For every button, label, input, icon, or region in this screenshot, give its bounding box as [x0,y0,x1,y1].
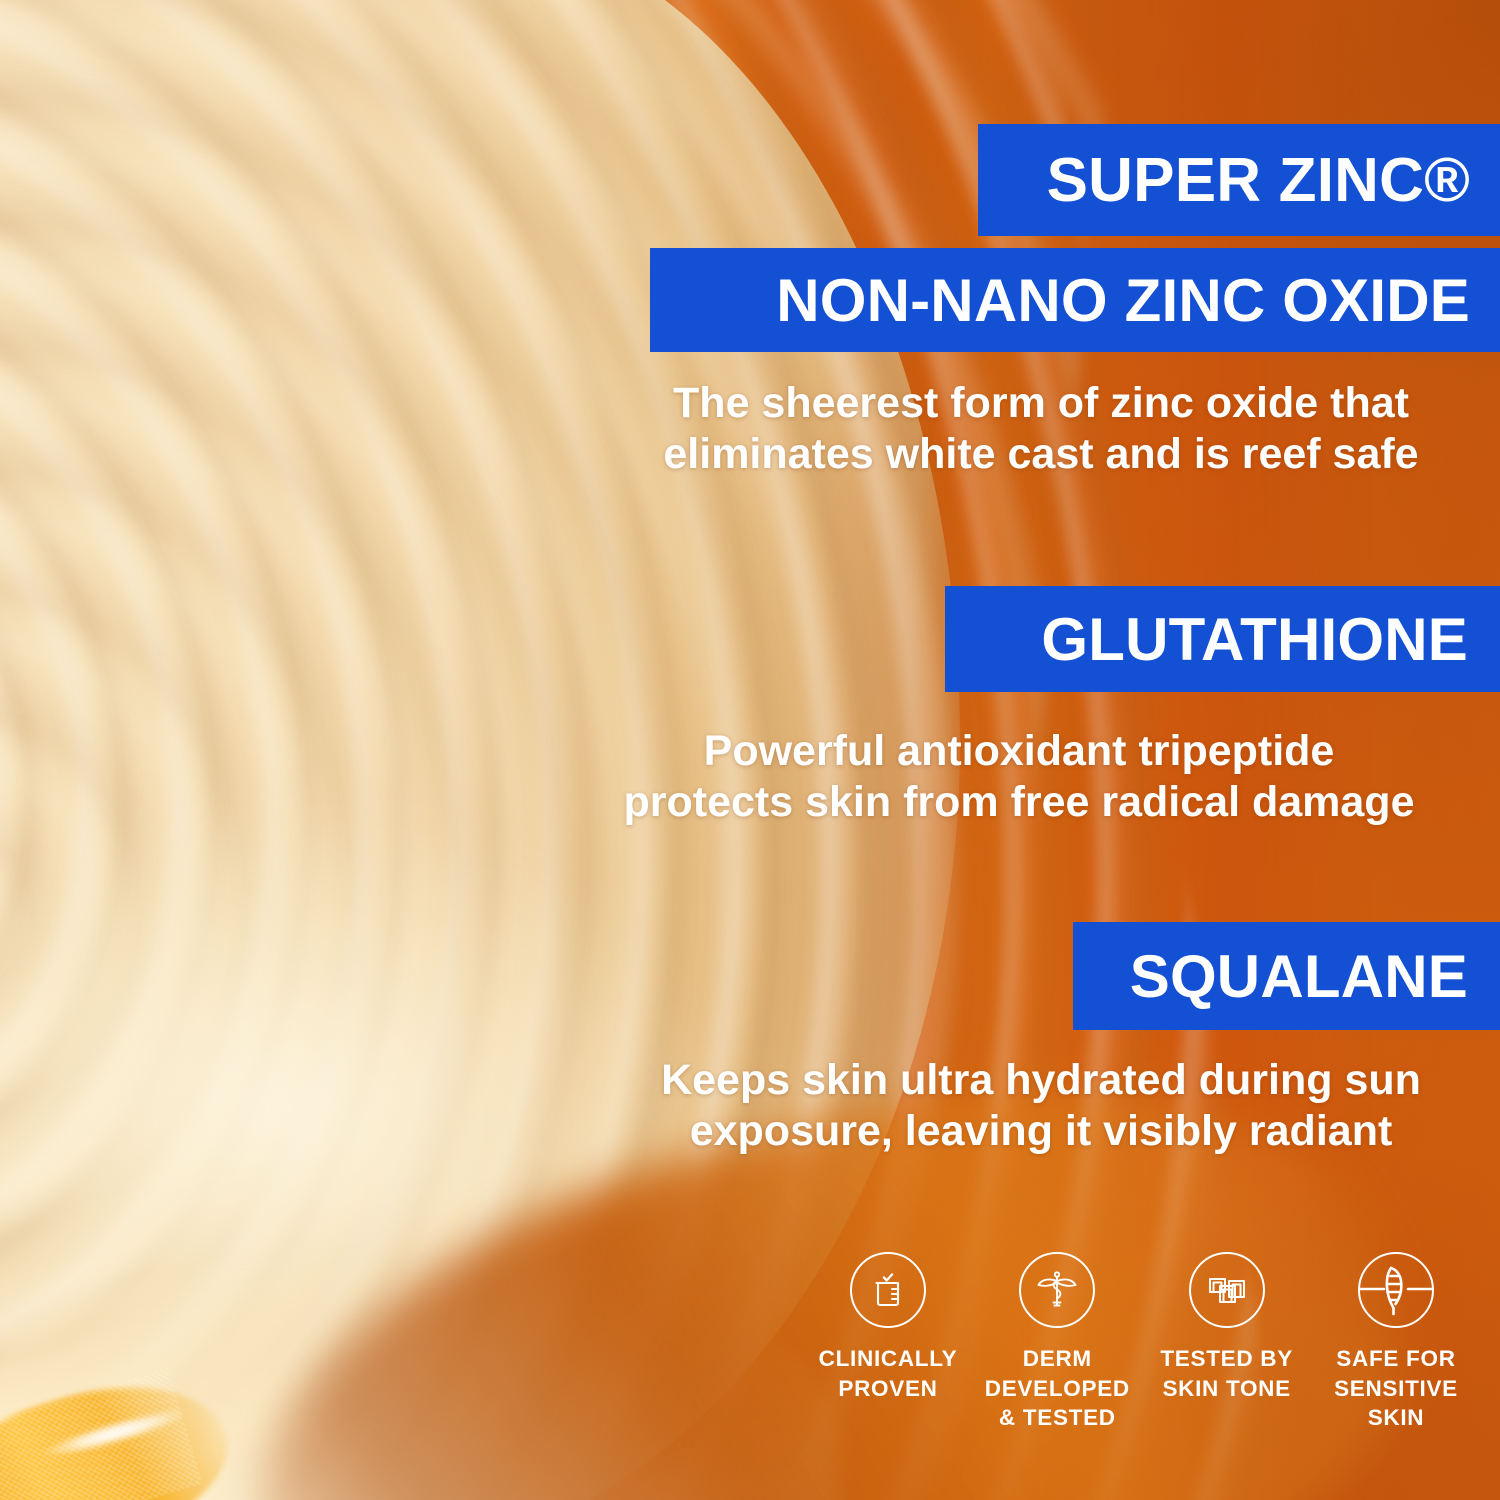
trust-badge-tested-skin-tone: TESTED BY SKIN TONE [1151,1252,1303,1403]
trust-badge-label: DERM DEVELOPED & TESTED [985,1344,1130,1433]
badge-super-zinc: SUPER ZINC® [978,124,1500,236]
swatch-cards-icon [1203,1266,1251,1314]
description-squalane: Keeps skin ultra hydrated during sun exp… [600,1055,1482,1156]
badge-non-nano-zinc-oxide: NON-NANO ZINC OXIDE [650,248,1500,352]
badge-squalane: SQUALANE [1073,922,1500,1030]
description-zinc-oxide: The sheerest form of zinc oxide that eli… [600,378,1482,479]
badge-glutathione: GLUTATHIONE [945,586,1500,692]
trust-badge-label: CLINICALLY PROVEN [819,1344,958,1403]
beaker-check-icon [864,1266,912,1314]
trust-badge-clinically-proven: CLINICALLY PROVEN [812,1252,964,1403]
trust-badge-label: SAFE FOR SENSITIVE SKIN [1320,1344,1472,1433]
product-ingredient-infographic: SUPER ZINC® NON-NANO ZINC OXIDE The shee… [0,0,1500,1500]
trust-circle-frame [1189,1252,1265,1328]
trust-badge-derm-developed: DERM DEVELOPED & TESTED [981,1252,1133,1433]
trust-badge-label: TESTED BY SKIN TONE [1160,1344,1293,1403]
trust-circle-frame [850,1252,926,1328]
feather-icon [1360,1254,1432,1326]
trust-badge-row: CLINICALLY PROVEN DERM DEVELOPED & TEST [812,1252,1472,1433]
trust-circle-frame [1358,1252,1434,1328]
trust-badge-safe-sensitive-skin: SAFE FOR SENSITIVE SKIN [1320,1252,1472,1433]
caduceus-icon [1033,1266,1081,1314]
description-glutathione: Powerful antioxidant tripeptide protects… [556,726,1482,827]
trust-circle-frame [1019,1252,1095,1328]
